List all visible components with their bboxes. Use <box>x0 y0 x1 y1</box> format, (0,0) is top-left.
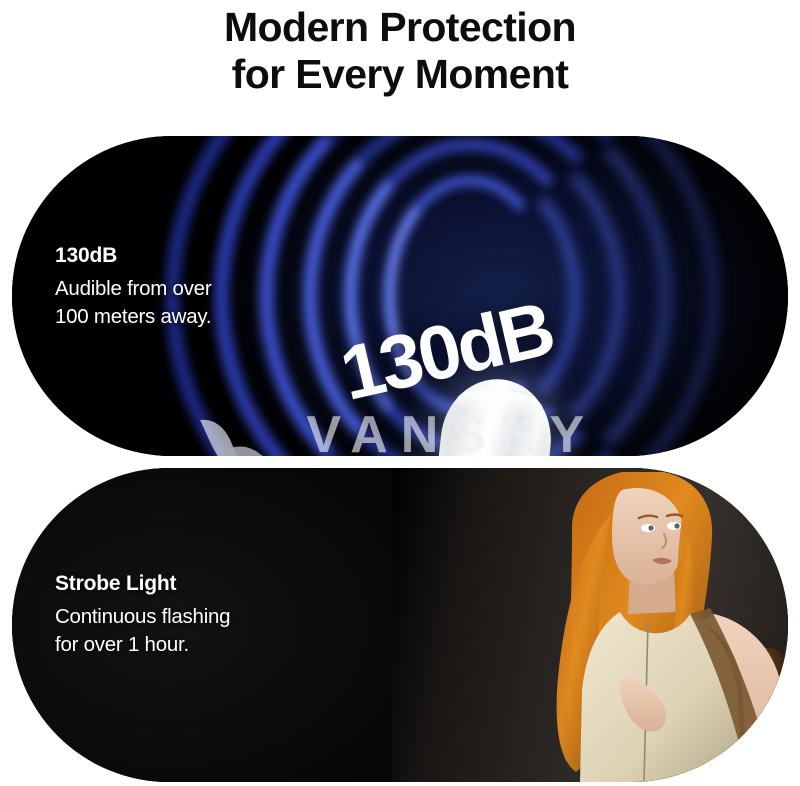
caption-strobe-body: Continuous flashing for over 1 hour. <box>55 603 230 659</box>
caption-audible: 130dB Audible from over 100 meters away. <box>55 244 211 331</box>
feature-panel-strobe: Strobe Light Continuous flashing for ove… <box>12 468 788 782</box>
page-title: Modern Protection for Every Moment <box>0 0 800 98</box>
feature-panel-audible: 130dB 130dB Audible from over 100 meters… <box>12 136 788 456</box>
caption-audible-title: 130dB <box>55 244 211 268</box>
page-title-line-1: Modern Protection <box>0 4 800 51</box>
page-title-line-2: for Every Moment <box>0 51 800 98</box>
woman-photo-subject <box>524 472 788 782</box>
caption-audible-body: Audible from over 100 meters away. <box>55 275 211 331</box>
caption-strobe-title: Strobe Light <box>55 572 230 596</box>
caption-strobe: Strobe Light Continuous flashing for ove… <box>55 572 230 659</box>
